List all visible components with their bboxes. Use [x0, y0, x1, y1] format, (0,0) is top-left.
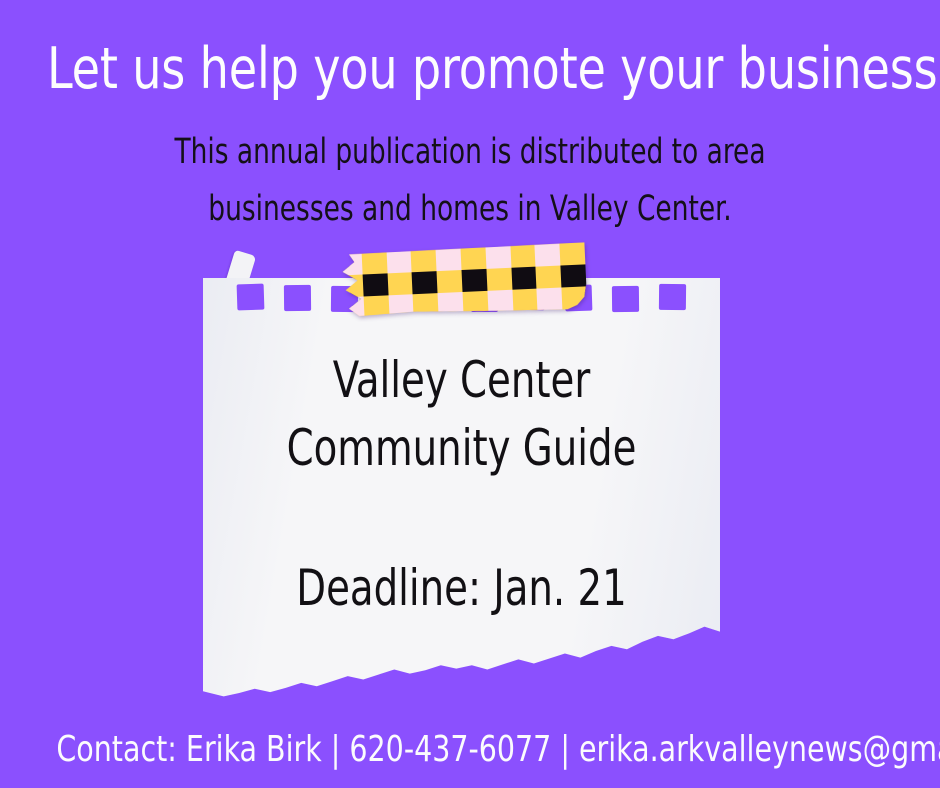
gingham-cell [485, 246, 511, 269]
gingham-cell [388, 294, 414, 317]
torn-paper-note: Valley Center Community Guide Deadline: … [198, 258, 722, 706]
gingham-cell [339, 296, 365, 319]
gingham-cell [487, 290, 513, 313]
note-title: Valley Center Community Guide [239, 346, 684, 482]
washi-tape-icon [337, 242, 588, 319]
subtitle-block: This annual publication is distributed t… [75, 124, 865, 238]
page-title: Let us help you promote your business! [47, 38, 893, 100]
gingham-cell [362, 273, 388, 296]
note-deadline: Deadline: Jan. 21 [239, 560, 684, 616]
gingham-cell [561, 264, 587, 287]
note-title-line-1: Valley Center [239, 346, 684, 414]
gingham-cell [511, 267, 537, 290]
washi-tape-surface [337, 242, 588, 319]
gingham-cell [363, 295, 389, 318]
subtitle-line-1: This annual publication is distributed t… [75, 124, 865, 181]
gingham-cell [386, 250, 412, 273]
gingham-cell [337, 253, 363, 276]
gingham-cell [338, 275, 364, 298]
gingham-cell [412, 271, 438, 294]
gingham-cell [560, 242, 586, 265]
gingham-cell [536, 266, 562, 289]
gingham-cell [413, 293, 439, 316]
gingham-cell [436, 248, 462, 271]
gingham-cell [387, 272, 413, 295]
note-text-block: Valley Center Community Guide Deadline: … [203, 278, 720, 616]
note-title-line-2: Community Guide [239, 414, 684, 482]
gingham-cell [535, 244, 561, 267]
gingham-cell [461, 269, 487, 292]
gingham-cell [438, 292, 464, 315]
gingham-cell [510, 245, 536, 268]
gingham-cell [537, 287, 563, 310]
gingham-cell [512, 289, 538, 312]
gingham-cell [361, 251, 387, 274]
gingham-cell [460, 247, 486, 270]
gingham-cell [462, 291, 488, 314]
promo-poster: Let us help you promote your business! T… [0, 0, 940, 788]
contact-line: Contact: Erika Birk | 620-437-6077 | eri… [56, 730, 883, 770]
gingham-cell [411, 249, 437, 272]
gingham-pattern [337, 242, 588, 319]
gingham-cell [562, 286, 588, 309]
gingham-cell [486, 268, 512, 291]
gingham-cell [437, 270, 463, 293]
subtitle-line-2: businesses and homes in Valley Center. [75, 181, 865, 238]
